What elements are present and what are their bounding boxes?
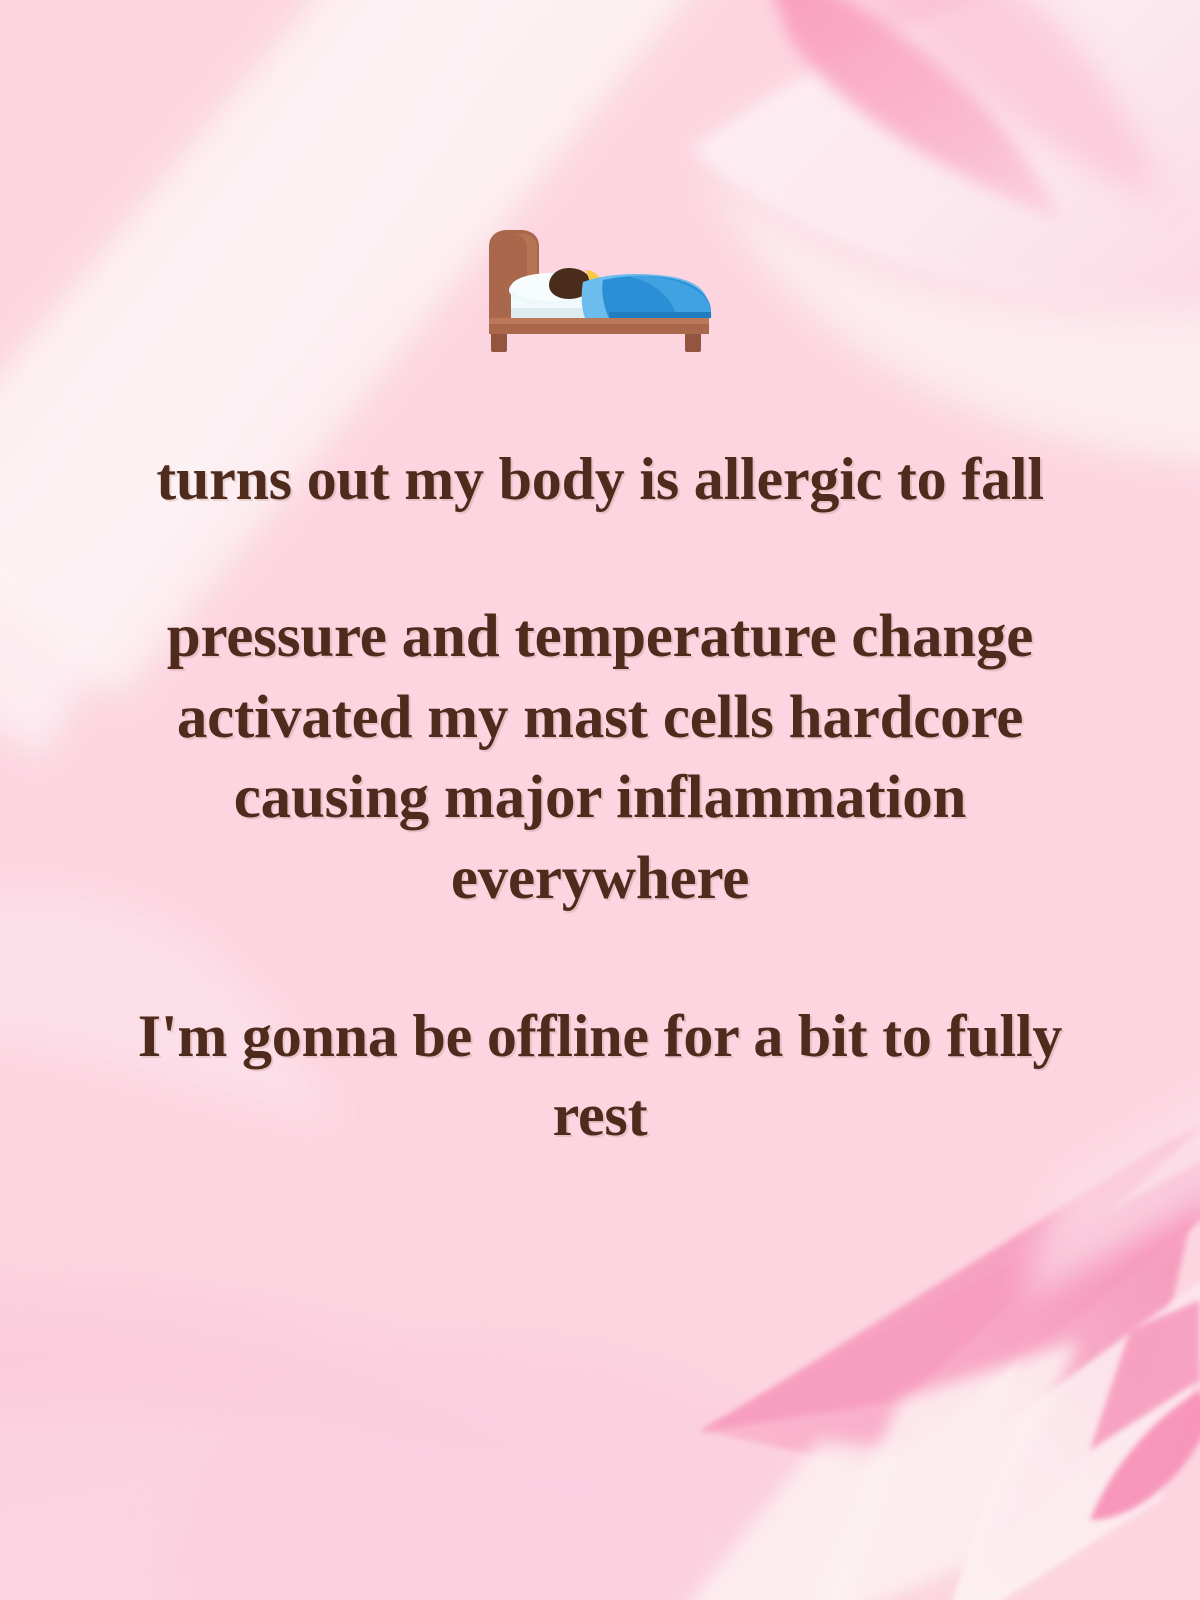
- bed-with-person-sleeping-icon: [477, 222, 723, 362]
- poster-canvas: turns out my body is allergic to fall pr…: [0, 0, 1200, 1600]
- bed-with-person-emoji-wrapper: [477, 222, 723, 362]
- post-paragraph-1: turns out my body is allergic to fall: [120, 440, 1080, 519]
- poster-content: turns out my body is allergic to fall pr…: [0, 0, 1200, 1600]
- post-text-block: turns out my body is allergic to fall pr…: [120, 440, 1080, 1156]
- post-paragraph-3: I'm gonna be offline for a bit to fully …: [120, 997, 1080, 1155]
- post-paragraph-2: pressure and temperature change activate…: [120, 597, 1080, 919]
